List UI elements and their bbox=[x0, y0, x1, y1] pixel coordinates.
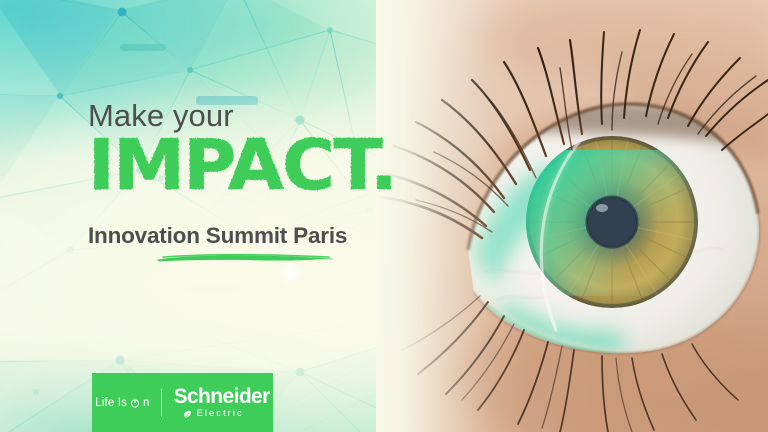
life-is-on-tagline: Life Is n bbox=[95, 397, 160, 409]
green-brush-underline-icon bbox=[155, 252, 333, 263]
brand-sub-row: Electric bbox=[174, 409, 244, 420]
brand-name: Schneider bbox=[174, 386, 270, 407]
power-on-icon bbox=[130, 398, 140, 408]
schneider-wordmark: Schneider Electric bbox=[162, 386, 270, 420]
innovation-summit-banner: Make your IMPACT. Innovation Summit Pari… bbox=[0, 0, 768, 432]
brand-sub: Electric bbox=[197, 409, 244, 419]
light-bokeh-dot bbox=[280, 262, 302, 284]
subline-block: Innovation Summit Paris bbox=[88, 223, 448, 249]
event-name: Innovation Summit Paris bbox=[88, 223, 448, 249]
headline-impact: IMPACT. bbox=[88, 135, 470, 199]
life-is-on-suffix: n bbox=[143, 397, 150, 409]
life-is-on-text: Life Is bbox=[95, 397, 127, 409]
schneider-electric-logo[interactable]: Life Is n Schneider Electric bbox=[92, 373, 273, 432]
headline-block: Make your IMPACT. Innovation Summit Pari… bbox=[88, 100, 448, 249]
schneider-leaf-icon bbox=[182, 409, 193, 420]
